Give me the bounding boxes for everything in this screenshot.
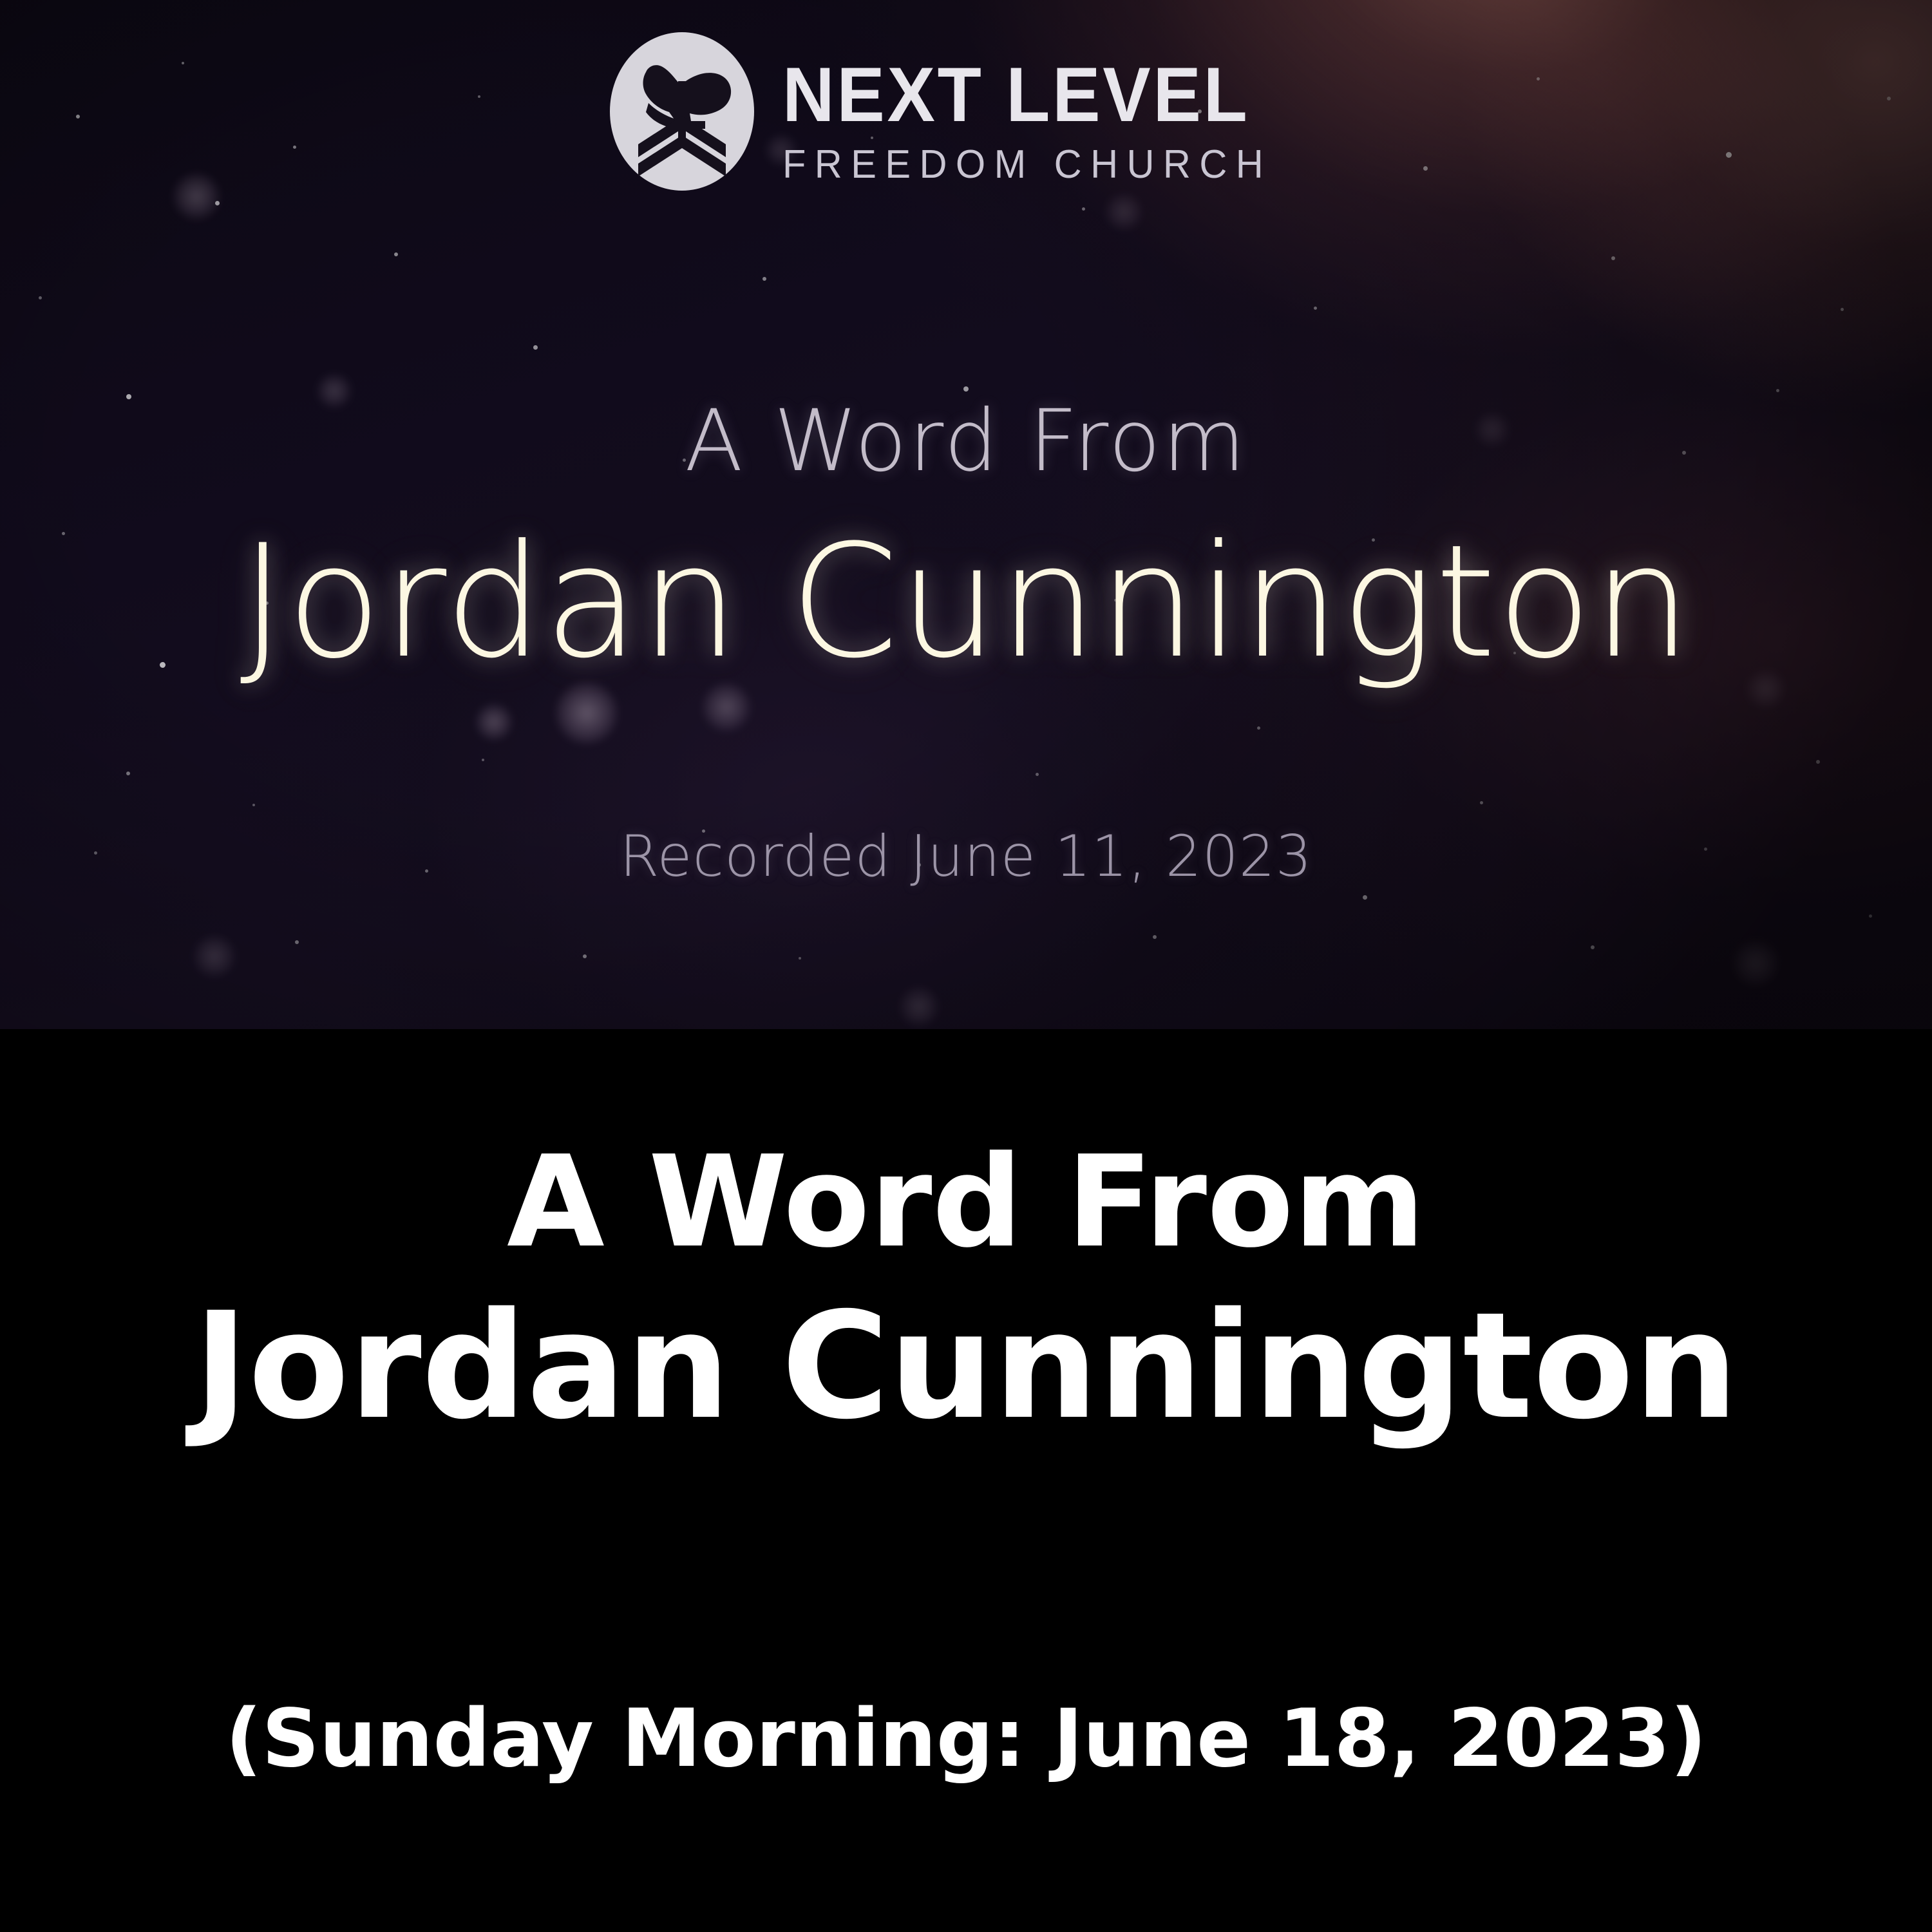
caption-subtitle: (Sunday Morning: June 18, 2023) bbox=[0, 1692, 1932, 1785]
hero-recorded-date: Recorded June 11, 2023 bbox=[0, 823, 1932, 889]
dove-cross-chevron-logo-icon bbox=[609, 31, 755, 192]
hero-speaker-name: Jordan Cunnington bbox=[0, 520, 1932, 684]
caption-title-line-1: A Word From bbox=[507, 1129, 1425, 1276]
church-name-secondary: FREEDOM CHURCH bbox=[782, 145, 1272, 185]
caption-title: A Word From Jordan Cunnington bbox=[0, 1126, 1932, 1453]
caption-title-line-2: Jordan Cunnington bbox=[0, 1280, 1932, 1453]
hero-thumbnail: NEXT LEVEL FREEDOM CHURCH A Word From Jo… bbox=[0, 0, 1932, 1029]
church-logo-wordmark: NEXT LEVEL FREEDOM CHURCH bbox=[782, 38, 1293, 185]
hero-eyebrow-text: A Word From bbox=[0, 392, 1932, 491]
church-logo-lockup: NEXT LEVEL FREEDOM CHURCH bbox=[609, 31, 1293, 192]
episode-artwork-page: NEXT LEVEL FREEDOM CHURCH A Word From Jo… bbox=[0, 0, 1932, 1932]
caption-panel: A Word From Jordan Cunnington (Sunday Mo… bbox=[0, 1029, 1932, 1932]
church-name-primary: NEXT LEVEL bbox=[782, 56, 1256, 133]
